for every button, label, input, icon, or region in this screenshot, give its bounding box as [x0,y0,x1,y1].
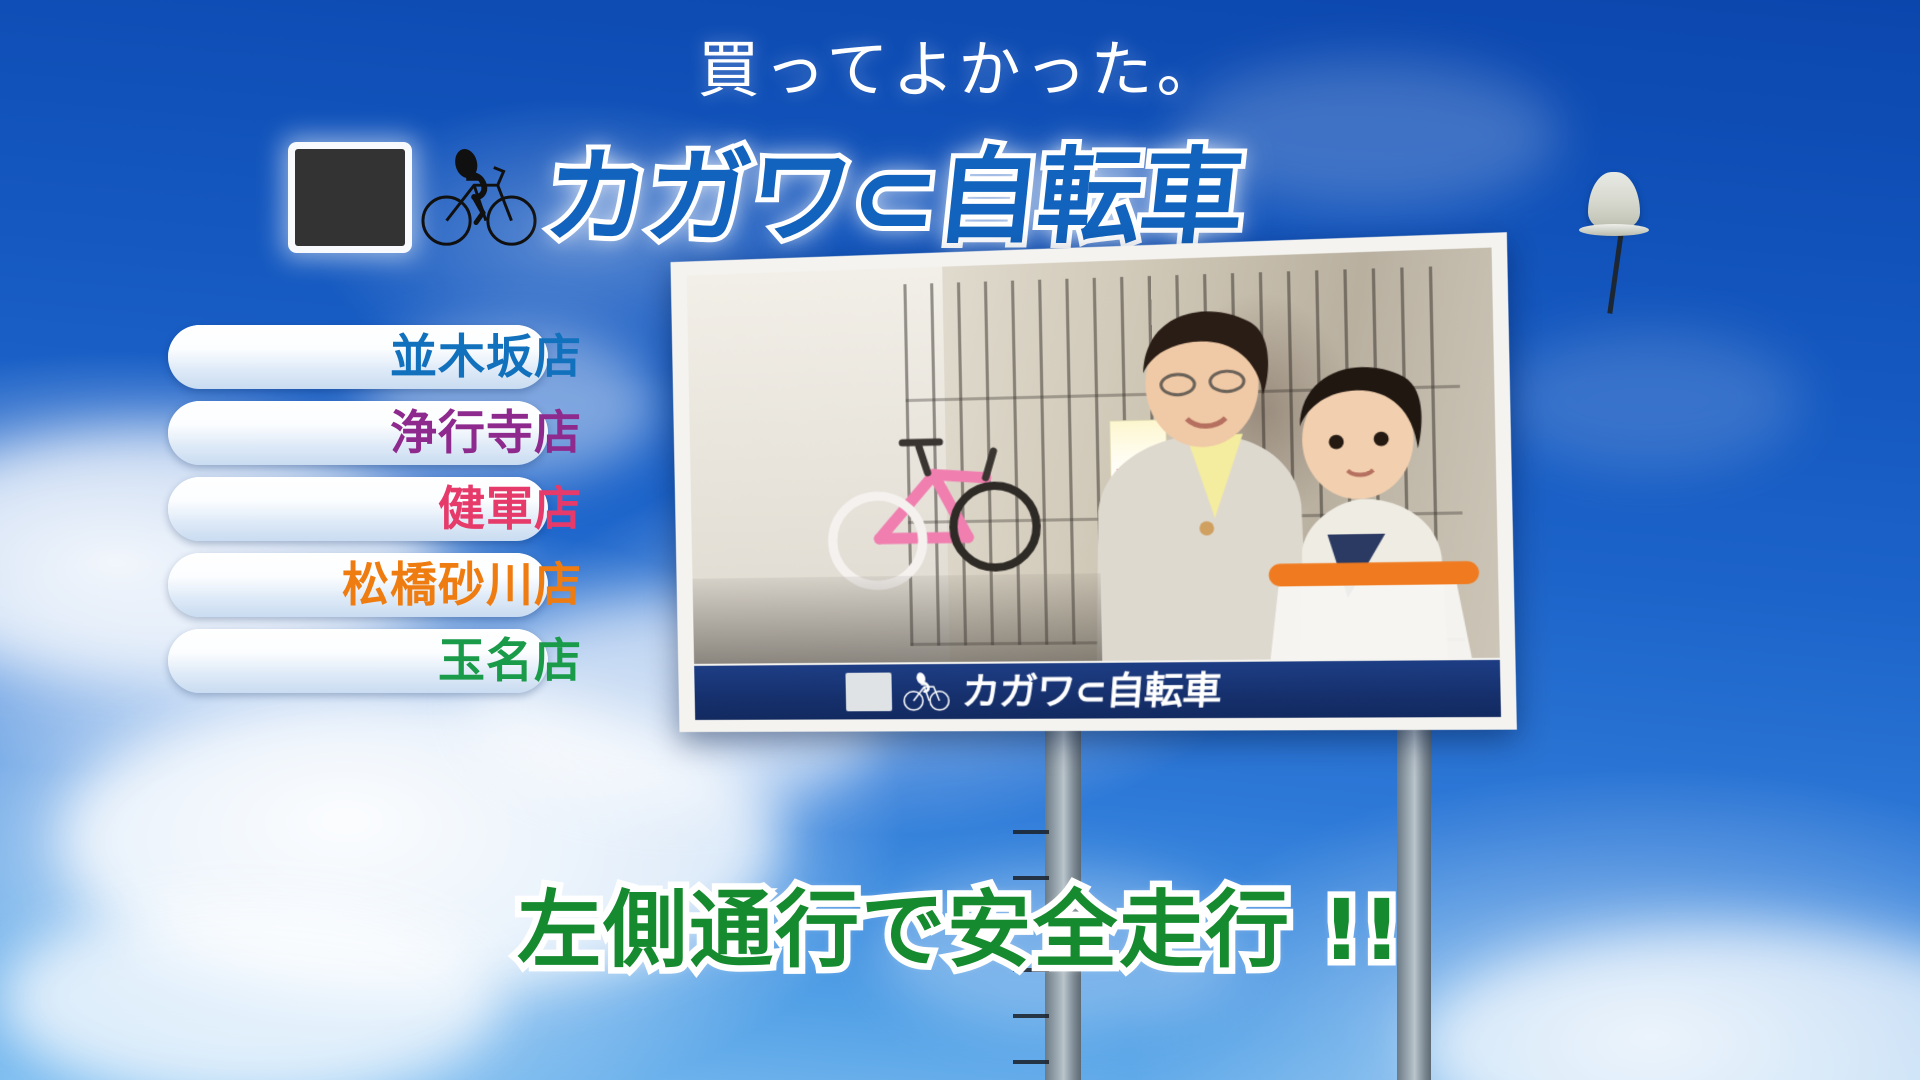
banner-square-mark [845,673,892,712]
store-pill-jogyoji[interactable]: 浄行寺店 [168,401,548,465]
billboard-panel: ¥700 [671,232,1517,732]
cloud-wisp [1500,330,1800,470]
headline-text: 買ってよかった。 [0,40,1920,102]
store-list: 並木坂店 浄行寺店 健軍店 松橋砂川店 玉名店 [168,325,548,705]
brand-name: カガワ⊂自転車 [540,146,1248,250]
store-label: 松橋砂川店 [342,562,582,609]
billboard-bottom-banner: カガワ⊂自転車 [694,660,1501,720]
store-label: 並木坂店 [390,334,582,381]
banner-brand-name: カガワ⊂自転車 [961,671,1223,711]
photo-bicycle-row [692,573,1102,664]
cyclist-icon [900,671,954,712]
billboard-photo: ¥700 [687,248,1500,664]
cyclist-icon [421,145,539,250]
brand-logo: カガワ⊂自転車 [295,140,1242,255]
billboard-scene: 買ってよかった。 カガワ⊂自転車 並木坂店 浄行寺店 健軍店 松橋砂 [0,0,1920,1080]
store-pill-matsubasesunagawa[interactable]: 松橋砂川店 [168,553,548,617]
store-pill-tamana[interactable]: 玉名店 [168,629,548,693]
safety-slogan: 左側通行で安全走行 !! [0,888,1920,972]
store-pill-namikizaka[interactable]: 並木坂店 [168,325,548,389]
brand-square-mark [295,149,405,246]
floodlight-icon [1588,172,1640,230]
store-label: 浄行寺店 [390,410,582,457]
store-label: 健軍店 [438,486,582,533]
store-label: 玉名店 [438,638,582,685]
store-pill-kengun[interactable]: 健軍店 [168,477,548,541]
billboard-frame: ¥700 [671,232,1517,732]
